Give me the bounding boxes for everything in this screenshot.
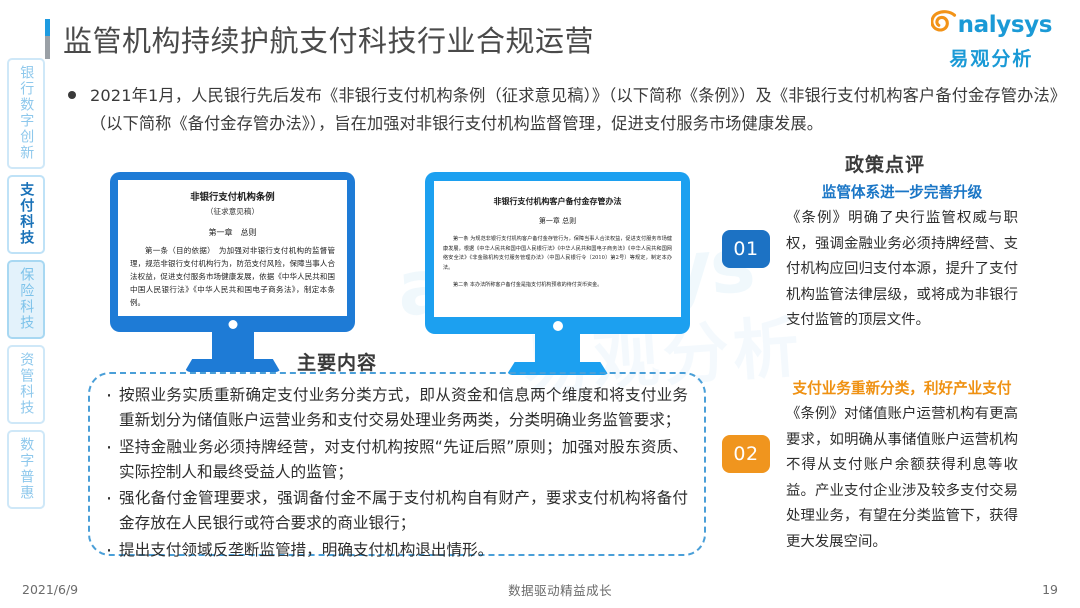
list-item: 坚持金融业务必须持牌经营，对支付机构按照“先证后照”原则；加强对股东资质、实际控… (104, 435, 688, 486)
list-item: 强化备付金管理要求，强调备付金不属于支付机构自有财产，要求支付机构将备付金存放在… (104, 486, 688, 537)
document-body: 第一条（目的依据） 为加强对非银行支付机构的监督管理，规范非银行支付机构行为，防… (130, 245, 335, 309)
sidebar-item-label: 保险科技 (18, 267, 35, 331)
analysys-logo: nalysys 易观分析 (931, 10, 1052, 71)
logo-text-cn: 易观分析 (931, 44, 1052, 71)
monitor-neck (535, 334, 580, 362)
sidebar-item-bank-digital-innovation[interactable]: 银行数字创新 (7, 58, 45, 169)
monitor-power-dot-icon (553, 321, 563, 331)
page-title-wrap: 监管机构持续护航支付科技行业合规运营 (45, 18, 594, 60)
list-item: 提出支付领域反垄断监管措，明确支付机构退出情形。 (104, 538, 688, 563)
bullet-dot-icon (68, 91, 76, 99)
sidebar-item-digital-inclusive-finance[interactable]: 数字普惠 (7, 430, 45, 509)
document-chapter: 第一章 总则 (130, 227, 335, 238)
monitor-frame: 非银行支付机构客户备付金存管办法 第一章 总则 第一条 为规范非银行支付机构客户… (425, 172, 690, 334)
sidebar-item-label: 支付科技 (18, 182, 35, 246)
document-title: 非银行支付机构客户备付金存管办法 (443, 196, 672, 207)
main-content-heading: 主要内容 (297, 348, 377, 375)
document-chapter: 第一章 总则 (443, 216, 672, 226)
slide-footer: 2021/6/9 数据驱动精益成长 19 (0, 580, 1080, 599)
note-title: 监管体系进一步完善升级 (786, 182, 1018, 204)
sidebar-item-payment-tech[interactable]: 支付科技 (7, 175, 45, 254)
page-title: 监管机构持续护航支付科技行业合规运营 (63, 18, 594, 60)
document-body-2: 第二条 本办法所称客户备付金是指支付机构预收的待付货币资金。 (443, 281, 672, 291)
intro-paragraph: 2021年1月，人民银行先后发布《非银行支付机构条例（征求意见稿）》（以下简称《… (68, 82, 1058, 138)
main-content-box: 按照业务实质重新确定支付业务分类方式，即从资金和信息两个维度和将支付业务重新划分… (88, 372, 706, 556)
footer-page-number: 19 (1042, 582, 1058, 597)
logo-text-en: nalysys (958, 14, 1052, 37)
note-text: 《条例》对储值账户运营机构有更高要求，如明确从事储值账户运营机构不得从支付账户余… (786, 402, 1018, 556)
logo-row: nalysys (931, 10, 1052, 41)
document-page: 非银行支付机构客户备付金存管办法 第一章 总则 第一条 为规范非银行支付机构客户… (434, 181, 681, 298)
note-number-badge: 02 (722, 435, 770, 473)
monitor-power-dot-icon (228, 320, 237, 329)
logo-swoosh-icon (931, 10, 957, 39)
monitor-frame: 非银行支付机构条例 （征求意见稿） 第一章 总则 第一条（目的依据） 为加强对非… (110, 172, 355, 332)
slide-root: analysys 易观分析 监管机构持续护航支付科技行业合规运营 nalysys… (0, 0, 1080, 608)
document-page: 非银行支付机构条例 （征求意见稿） 第一章 总则 第一条（目的依据） 为加强对非… (118, 180, 347, 315)
sidebar-item-insurance-tech[interactable]: 保险科技 (7, 260, 45, 339)
monitor-custody: 非银行支付机构客户备付金存管办法 第一章 总则 第一条 为规范非银行支付机构客户… (425, 172, 690, 375)
monitor-neck (212, 332, 254, 359)
list-item: 按照业务实质重新确定支付业务分类方式，即从资金和信息两个维度和将支付业务重新划分… (104, 383, 688, 434)
category-sidebar: 银行数字创新 支付科技 保险科技 资管科技 数字普惠 (7, 58, 45, 509)
sidebar-item-asset-management-tech[interactable]: 资管科技 (7, 345, 45, 424)
footer-slogan: 数据驱动精益成长 (78, 580, 1042, 599)
title-accent-bar (45, 19, 50, 59)
intro-text: 2021年1月，人民银行先后发布《非银行支付机构条例（征求意见稿）》（以下简称《… (90, 82, 1058, 138)
sidebar-item-label: 资管科技 (18, 352, 35, 416)
note-text: 《条例》明确了央行监管权威与职权，强调金融业务必须持牌经营、支付机构应回归支付本… (786, 206, 1018, 334)
monitor-base (185, 359, 281, 372)
policy-review-heading: 政策点评 (845, 150, 925, 177)
policy-note-01: 01 监管体系进一步完善升级 《条例》明确了央行监管权威与职权，强调金融业务必须… (722, 182, 1052, 334)
document-subtitle: （征求意见稿） (130, 206, 335, 217)
monitor-regulation: 非银行支付机构条例 （征求意见稿） 第一章 总则 第一条（目的依据） 为加强对非… (110, 172, 355, 372)
main-content-list: 按照业务实质重新确定支付业务分类方式，即从资金和信息两个维度和将支付业务重新划分… (104, 383, 688, 563)
note-body: 支付业务重新分类，利好产业支付 《条例》对储值账户运营机构有更高要求，如明确从事… (786, 378, 1018, 556)
policy-note-02: 02 支付业务重新分类，利好产业支付 《条例》对储值账户运营机构有更高要求，如明… (722, 378, 1052, 556)
document-title: 非银行支付机构条例 (130, 189, 335, 203)
monitor-screen: 非银行支付机构条例 （征求意见稿） 第一章 总则 第一条（目的依据） 为加强对非… (118, 180, 347, 316)
note-title: 支付业务重新分类，利好产业支付 (786, 378, 1018, 400)
document-body: 第一条 为规范非银行支付机构客户备付金存管行为，保障当事人合法权益，促进支付服务… (443, 235, 672, 274)
note-body: 监管体系进一步完善升级 《条例》明确了央行监管权威与职权，强调金融业务必须持牌经… (786, 182, 1018, 334)
sidebar-item-label: 银行数字创新 (18, 65, 35, 161)
note-number-badge: 01 (722, 230, 770, 268)
footer-date: 2021/6/9 (22, 582, 78, 597)
sidebar-item-label: 数字普惠 (18, 437, 35, 501)
monitor-screen: 非银行支付机构客户备付金存管办法 第一章 总则 第一条 为规范非银行支付机构客户… (434, 181, 681, 317)
